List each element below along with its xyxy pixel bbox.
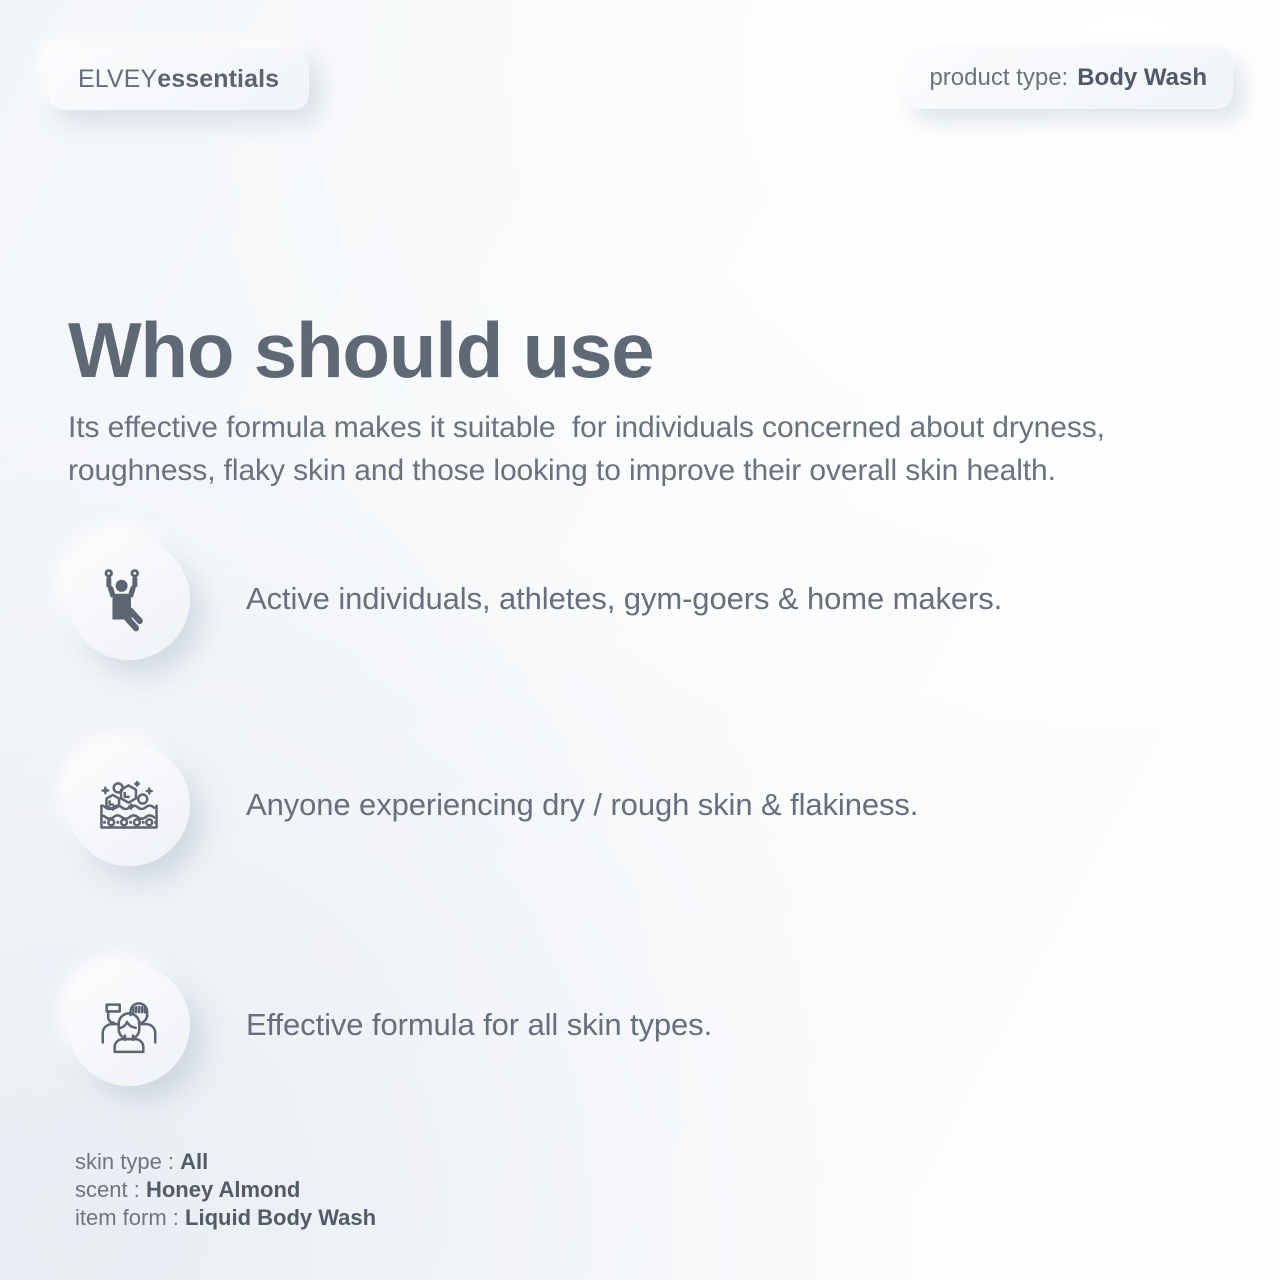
benefit-text-3: Effective formula for all skin types. xyxy=(246,1006,712,1044)
product-type-label: product type: xyxy=(929,64,1068,92)
spec-skin-type-value: All xyxy=(180,1149,208,1174)
benefit-row-1: Active individuals, athletes, gym-goers … xyxy=(68,538,1218,660)
group-of-people-icon xyxy=(68,964,190,1086)
product-type-badge: product type: Body Wash xyxy=(903,47,1233,109)
page-title: Who should use xyxy=(68,311,654,389)
benefit-text-2: Anyone experiencing dry / rough skin & f… xyxy=(246,786,918,824)
spec-skin-type-label: skin type : xyxy=(75,1149,174,1174)
product-specs: skin type : All scent : Honey Almond ite… xyxy=(75,1148,376,1232)
brand-name-light: ELVEY xyxy=(78,65,157,94)
poster-canvas: ELVEYessentials product type: Body Wash … xyxy=(0,0,1280,1280)
benefit-row-2: Anyone experiencing dry / rough skin & f… xyxy=(68,744,1218,866)
brand-name-bold: essentials xyxy=(157,65,279,94)
spec-scent: scent : Honey Almond xyxy=(75,1176,376,1204)
benefit-row-3: Effective formula for all skin types. xyxy=(68,964,1218,1086)
intro-paragraph: Its effective formula makes it suitable … xyxy=(68,406,1228,492)
brand-badge: ELVEYessentials xyxy=(48,48,309,110)
spec-scent-label: scent : xyxy=(75,1177,140,1202)
spec-item-form-label: item form : xyxy=(75,1205,179,1230)
spec-skin-type: skin type : All xyxy=(75,1148,376,1176)
spec-item-form-value: Liquid Body Wash xyxy=(185,1205,376,1230)
skin-layer-icon xyxy=(68,744,190,866)
product-type-value: Body Wash xyxy=(1077,64,1207,92)
weight-training-icon xyxy=(68,538,190,660)
spec-item-form: item form : Liquid Body Wash xyxy=(75,1204,376,1232)
spec-scent-value: Honey Almond xyxy=(146,1177,300,1202)
benefit-text-1: Active individuals, athletes, gym-goers … xyxy=(246,580,1002,618)
